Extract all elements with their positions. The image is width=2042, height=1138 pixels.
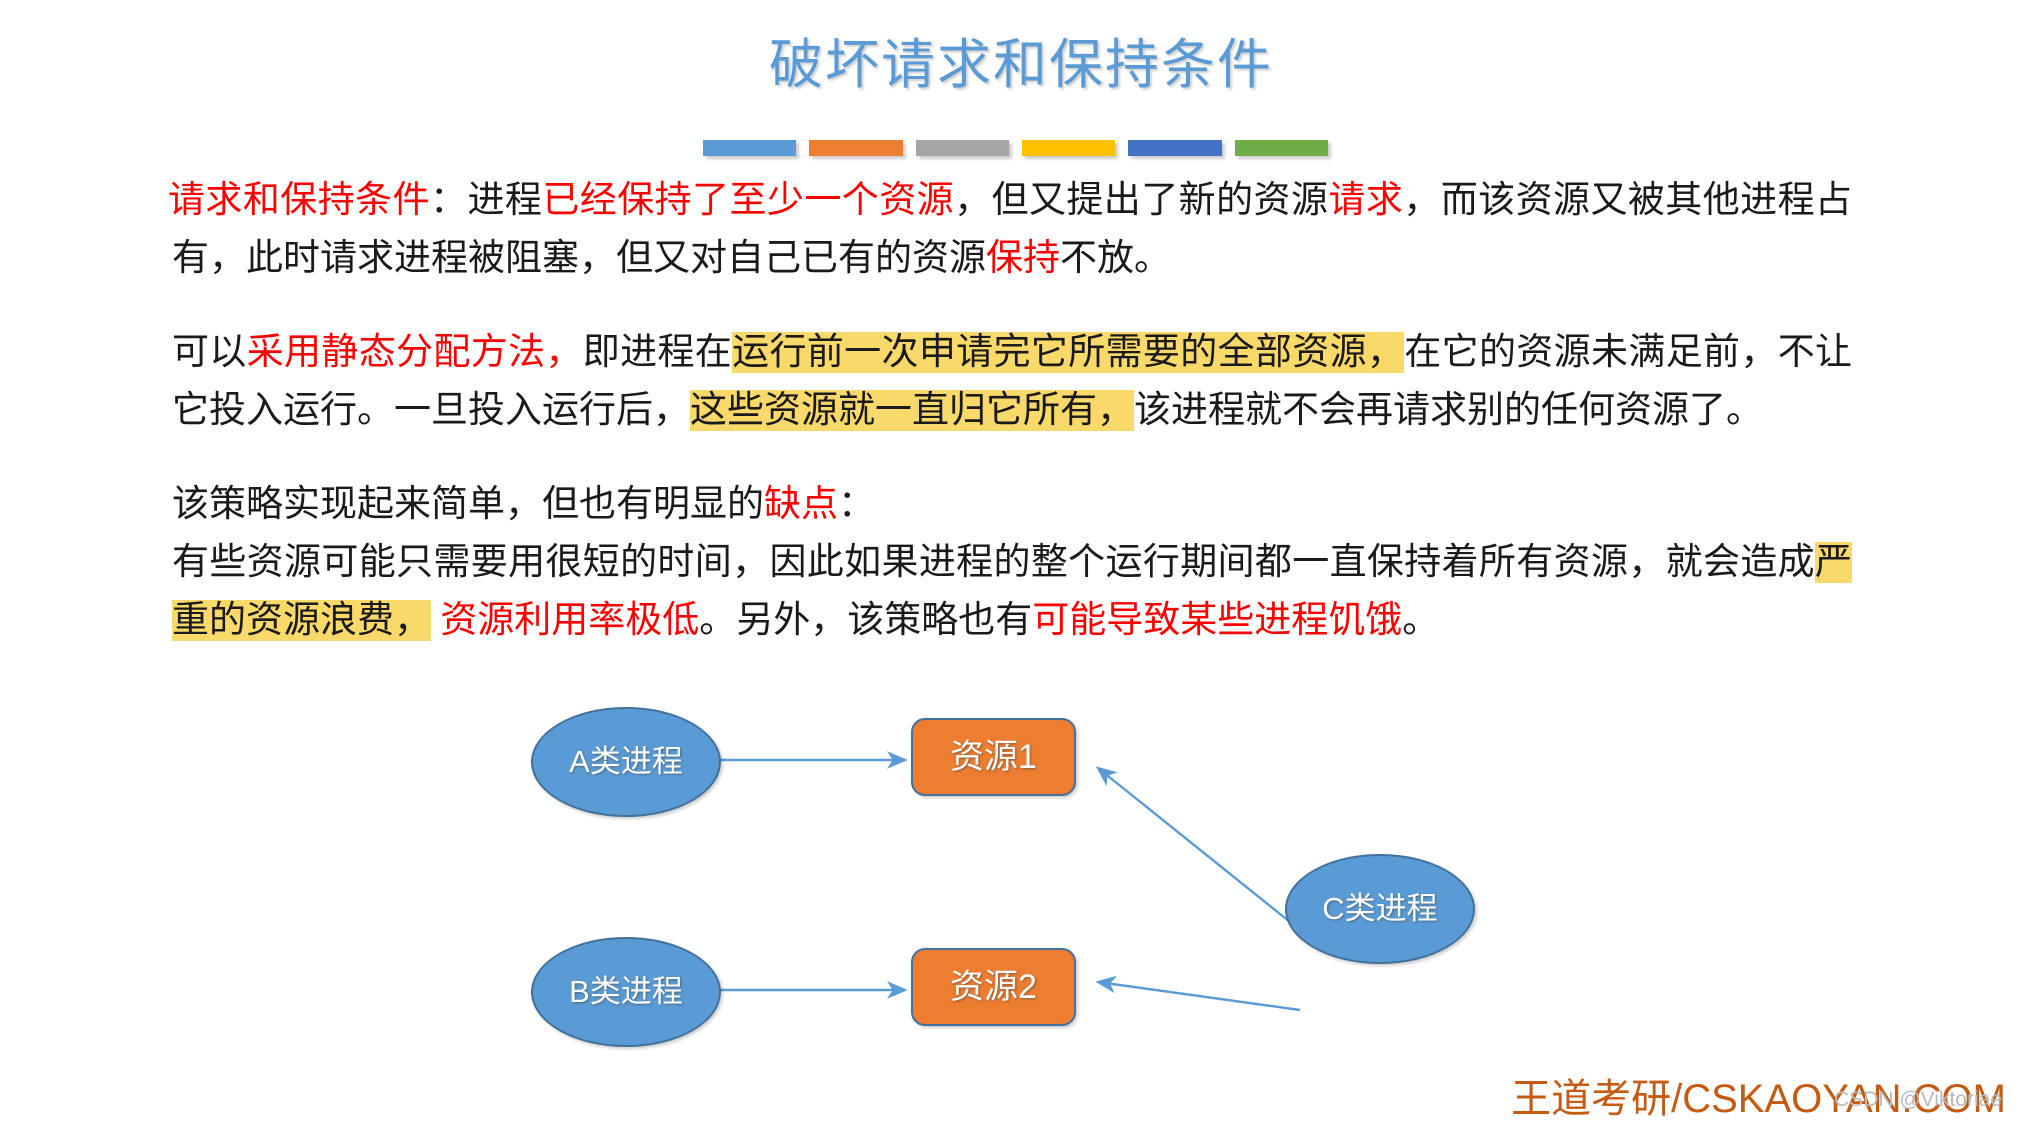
underline-bar-1 — [703, 140, 796, 156]
paragraph-drawbacks-detail: 有些资源可能只需要用很短的时间，因此如果进程的整个运行期间都一直保持着所有资源，… — [172, 534, 1852, 650]
underline-bar-2 — [809, 140, 902, 156]
text-segment — [431, 600, 440, 641]
text-segment: 保持 — [986, 238, 1060, 279]
underline-bar-5 — [1128, 140, 1221, 156]
slide-body: 请求和保持条件：进程已经保持了至少一个资源，但又提出了新的资源请求，而该资源又被… — [172, 172, 1852, 650]
text-segment: 缺点 — [764, 484, 838, 525]
text-segment: 该进程就不会再请求别的任何资源了。 — [1134, 390, 1763, 431]
highlighted-text: 这些资源就一直归它所有， — [690, 390, 1134, 431]
text-segment: 可以 — [172, 332, 247, 373]
edge-process-c-to-resource-2 — [1098, 982, 1300, 1010]
resource-allocation-diagram: A类进程 B类进程 C类进程 资源1 资源2 — [0, 680, 2042, 1080]
underline-bar-4 — [1022, 140, 1115, 156]
paragraph-condition-definition: 请求和保持条件：进程已经保持了至少一个资源，但又提出了新的资源请求，而该资源又被… — [172, 172, 1852, 288]
node-process-b[interactable]: B类进程 — [531, 937, 721, 1047]
node-label: 资源2 — [950, 968, 1037, 1006]
text-segment: 请求 — [1328, 180, 1403, 221]
node-label: A类进程 — [569, 743, 683, 781]
underline-bar-3 — [916, 140, 1009, 156]
text-segment: 可能导致某些进程饥饿 — [1032, 600, 1402, 641]
node-label: 资源1 — [950, 738, 1037, 776]
paragraph-spacer — [172, 440, 1852, 476]
footer-watermark: CSDN @Viktoriae — [1834, 1088, 2002, 1112]
text-segment: 。 — [1402, 600, 1439, 641]
page-title: 破坏请求和保持条件 — [0, 36, 2042, 95]
underline-bar-6 — [1235, 140, 1328, 156]
text-segment: ：进程 — [430, 180, 542, 221]
text-segment: ，但又提出了新的资源 — [954, 180, 1328, 221]
highlighted-text: 运行前一次申请完它所需要的全部资源， — [732, 332, 1404, 373]
text-segment: 即进程在 — [583, 332, 732, 373]
text-segment: 已经保持了至少一个资源 — [542, 180, 954, 221]
paragraph-drawbacks-lead: 该策略实现起来简单，但也有明显的缺点： — [172, 476, 1852, 534]
paragraph-spacer — [172, 288, 1852, 324]
text-segment: 资源利用率极低 — [440, 600, 699, 641]
text-segment: ： — [838, 484, 875, 525]
node-process-a[interactable]: A类进程 — [531, 707, 721, 817]
node-resource-2[interactable]: 资源2 — [911, 948, 1076, 1026]
text-segment: 该策略实现起来简单，但也有明显的 — [172, 484, 764, 525]
text-segment: 有些资源可能只需要用很短的时间，因此如果进程的整个运行期间都一直保持着所有资源，… — [172, 542, 1815, 583]
node-resource-1[interactable]: 资源1 — [911, 718, 1076, 796]
node-label: B类进程 — [569, 973, 683, 1011]
node-process-c[interactable]: C类进程 — [1285, 854, 1475, 964]
node-label: C类进程 — [1322, 890, 1437, 928]
text-segment: 采用静态分配方法， — [247, 332, 583, 373]
text-segment: 不放。 — [1060, 238, 1171, 279]
text-segment: 请求和保持条件 — [168, 180, 430, 221]
edge-process-c-to-resource-1 — [1098, 768, 1300, 930]
title-underline-bars — [703, 140, 1328, 156]
paragraph-static-allocation: 可以采用静态分配方法，即进程在运行前一次申请完它所需要的全部资源，在它的资源未满… — [172, 324, 1852, 440]
text-segment: 。另外，该策略也有 — [699, 600, 1032, 641]
